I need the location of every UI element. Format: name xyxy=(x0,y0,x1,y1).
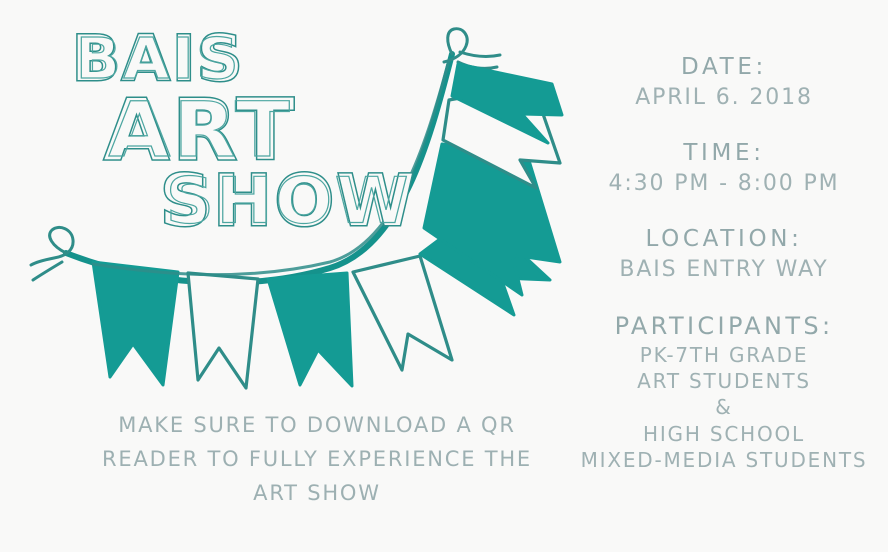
detail-group-time: TIME: 4:30 PM - 8:00 PM xyxy=(565,138,883,198)
participants-heading: PARTICIPANTS: xyxy=(565,310,883,342)
qr-instruction-caption: MAKE SURE TO DOWNLOAD A QR READER TO FUL… xyxy=(72,408,562,510)
bunting-flag-7 xyxy=(443,85,560,188)
location-value: BAIS ENTRY WAY xyxy=(565,255,883,284)
title-bais-inner: BAIS xyxy=(76,31,241,87)
bunting-left-knot xyxy=(31,227,73,280)
time-value: 4:30 PM - 8:00 PM xyxy=(565,169,883,198)
detail-group-participants: PARTICIPANTS: PK-7TH GRADE ART STUDENTS … xyxy=(565,310,883,474)
detail-group-location: LOCATION: BAIS ENTRY WAY xyxy=(565,224,883,284)
participants-line-4: HIGH SCHOOL xyxy=(565,421,883,447)
bunting-right-knot xyxy=(444,29,500,69)
location-heading: LOCATION: xyxy=(565,224,883,255)
caption-line-3: ART SHOW xyxy=(72,476,562,510)
date-heading: DATE: xyxy=(565,52,883,83)
bunting-flag-2 xyxy=(188,273,258,388)
bunting-flag-3 xyxy=(268,273,352,386)
detail-group-date: DATE: APRIL 6. 2018 xyxy=(565,52,883,112)
participants-line-5: MIXED-MEDIA STUDENTS xyxy=(565,447,883,473)
bunting-flag-6 xyxy=(424,144,560,295)
poster-title: BAIS BAIS ART ART SHOW SHOW xyxy=(0,22,400,232)
bunting-flag-1 xyxy=(93,262,178,385)
caption-line-1: MAKE SURE TO DOWNLOAD A QR xyxy=(72,408,562,442)
participants-line-2: ART STUDENTS xyxy=(565,368,883,394)
title-art-inner: ART xyxy=(108,92,293,168)
time-heading: TIME: xyxy=(565,138,883,169)
title-show-inner: SHOW xyxy=(166,170,411,233)
participants-line-1: PK-7TH GRADE xyxy=(565,342,883,368)
bunting-flag-4 xyxy=(353,256,452,370)
date-value: APRIL 6. 2018 xyxy=(565,83,883,112)
bunting-flag-5 xyxy=(420,206,550,315)
bunting-flag-8 xyxy=(452,64,562,143)
event-details-column: DATE: APRIL 6. 2018 TIME: 4:30 PM - 8:00… xyxy=(565,52,883,474)
poster-canvas: .flag-fill { fill: #149b94; stroke: #149… xyxy=(0,0,888,552)
participants-ampersand: & xyxy=(565,394,883,420)
caption-line-2: READER TO FULLY EXPERIENCE THE xyxy=(72,442,562,476)
